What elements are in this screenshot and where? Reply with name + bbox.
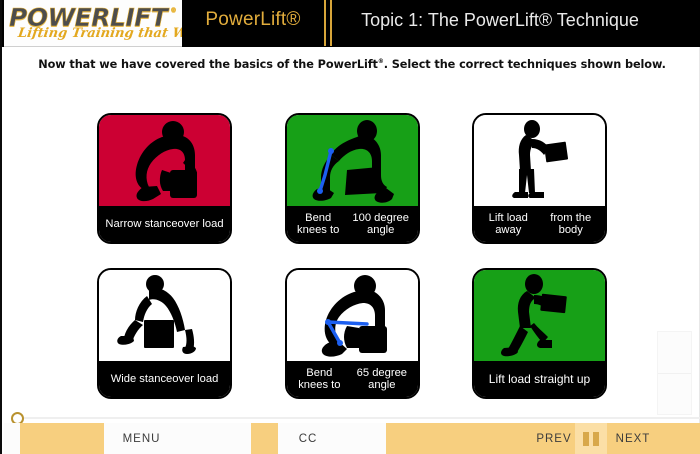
card-label: Wide stance over load — [99, 361, 230, 397]
bend-knees-65-icon — [287, 270, 418, 365]
card-label-line1: Wide stance — [111, 373, 173, 385]
brand-cell: PowerLift® — [184, 0, 322, 46]
next-button[interactable]: NEXT — [604, 423, 662, 454]
technique-card-bend-knees-65-degree[interactable]: Bend knees to 65 degree angle — [285, 268, 420, 399]
card-label-line2: over load — [172, 373, 218, 385]
technique-card-narrow-stance-over-load[interactable]: Narrow stance over load — [97, 113, 232, 244]
card-label-line2: from the body — [540, 212, 603, 236]
page-title: Topic 1: The PowerLift® Technique — [335, 10, 665, 31]
cc-button[interactable]: CC — [278, 423, 338, 454]
technique-card-bend-knees-100-degree[interactable]: Bend knees to 100 degree angle — [285, 113, 420, 244]
card-artwork — [474, 115, 605, 210]
pause-button[interactable] — [575, 423, 607, 454]
card-label-line1: Lift load straight up — [489, 373, 590, 386]
card-label-line2: over load — [178, 218, 224, 230]
card-label: Narrow stance over load — [99, 206, 230, 242]
topic-cell: Topic 1: The PowerLift® Technique — [335, 0, 700, 46]
side-placeholder-divider — [658, 373, 691, 374]
slide-header: POWERLIFT ® Lifting Training that Works!… — [2, 0, 700, 47]
card-artwork — [287, 115, 418, 210]
pause-icon-bar-right — [593, 432, 599, 446]
instruction-text: Now that we have covered the basics of t… — [2, 58, 700, 71]
instruction-prefix: Now that we have covered the basics of t… — [38, 58, 378, 71]
card-label: Bend knees to 65 degree angle — [287, 361, 418, 397]
wide-stance-over-load-icon — [99, 270, 230, 365]
card-label: Lift load away from the body — [474, 206, 605, 242]
header-divider-bar-2 — [330, 0, 332, 46]
side-placeholder-panel — [657, 331, 692, 415]
menu-button[interactable]: MENU — [104, 423, 179, 454]
card-label-line1: Narrow stance — [105, 218, 177, 230]
player-bar: MENU CC PREV NEXT — [4, 423, 700, 454]
card-label-line2: 100 degree angle — [346, 212, 415, 236]
seek-track[interactable] — [18, 417, 700, 419]
squat-lift-narrow-stance-icon — [99, 115, 230, 210]
card-label-line1: Bend knees to — [290, 367, 349, 391]
slide-stage: POWERLIFT ® Lifting Training that Works!… — [0, 0, 700, 454]
player-bar-right-fill — [659, 423, 700, 454]
card-artwork — [99, 115, 230, 210]
powerlift-logo: POWERLIFT ® Lifting Training that Works! — [4, 0, 182, 47]
card-artwork — [474, 270, 605, 365]
card-artwork — [99, 270, 230, 365]
bend-knees-100-icon — [287, 115, 418, 210]
technique-card-wide-stance-over-load[interactable]: Wide stance over load — [97, 268, 232, 399]
player-bar-cc-fill — [251, 423, 278, 454]
lift-straight-up-icon — [474, 270, 605, 365]
card-label-line1: Bend knees to — [290, 212, 346, 236]
card-label-line1: Lift load away — [477, 212, 540, 236]
logo-registered-mark: ® — [171, 7, 177, 14]
card-label-line2: 65 degree angle — [349, 367, 415, 391]
logo-tagline: Lifting Training that Works! — [17, 26, 179, 41]
pause-icon-bar-left — [583, 432, 589, 446]
header-divider-bar-1 — [324, 0, 326, 46]
lift-away-from-body-icon — [474, 115, 605, 210]
technique-card-lift-load-straight-up[interactable]: Lift load straight up — [472, 268, 607, 399]
instruction-suffix: . Select the correct techniques shown be… — [384, 58, 666, 71]
brand-name: PowerLift® — [184, 9, 322, 31]
technique-card-lift-load-away-from-body[interactable]: Lift load away from the body — [472, 113, 607, 244]
player-bar-left-fill — [20, 423, 104, 454]
card-label: Bend knees to 100 degree angle — [287, 206, 418, 242]
technique-card-grid: Narrow stance over load — [97, 113, 622, 406]
card-label: Lift load straight up — [474, 361, 605, 397]
card-artwork — [287, 270, 418, 365]
